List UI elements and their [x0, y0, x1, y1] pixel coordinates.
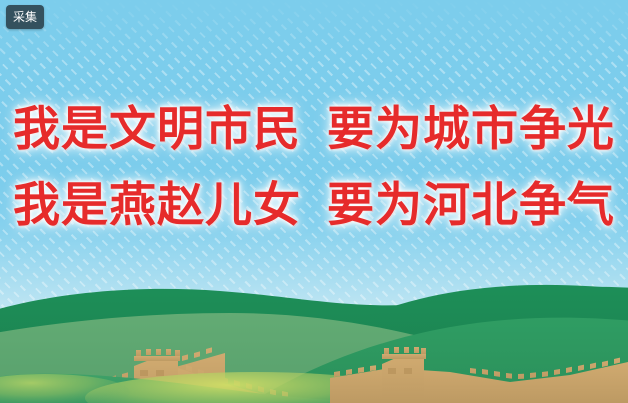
capture-button[interactable]: 采集 — [6, 5, 44, 29]
poster-image: 我是文明市民要为城市争光 我是燕赵儿女要为河北争气 采集 — [0, 0, 628, 403]
headline-block: 我是文明市民要为城市争光 我是燕赵儿女要为河北争气 — [0, 92, 628, 244]
headline-line-1-right: 要为城市争光 — [327, 102, 615, 157]
headline-line-1-left: 我是文明市民 — [13, 102, 301, 157]
headline-line-2-right: 要为河北争气 — [327, 178, 615, 233]
headline-line-2: 我是燕赵儿女要为河北争气 — [0, 168, 628, 244]
headline-line-2-left: 我是燕赵儿女 — [13, 178, 301, 233]
headline-line-1: 我是文明市民要为城市争光 — [0, 92, 628, 168]
